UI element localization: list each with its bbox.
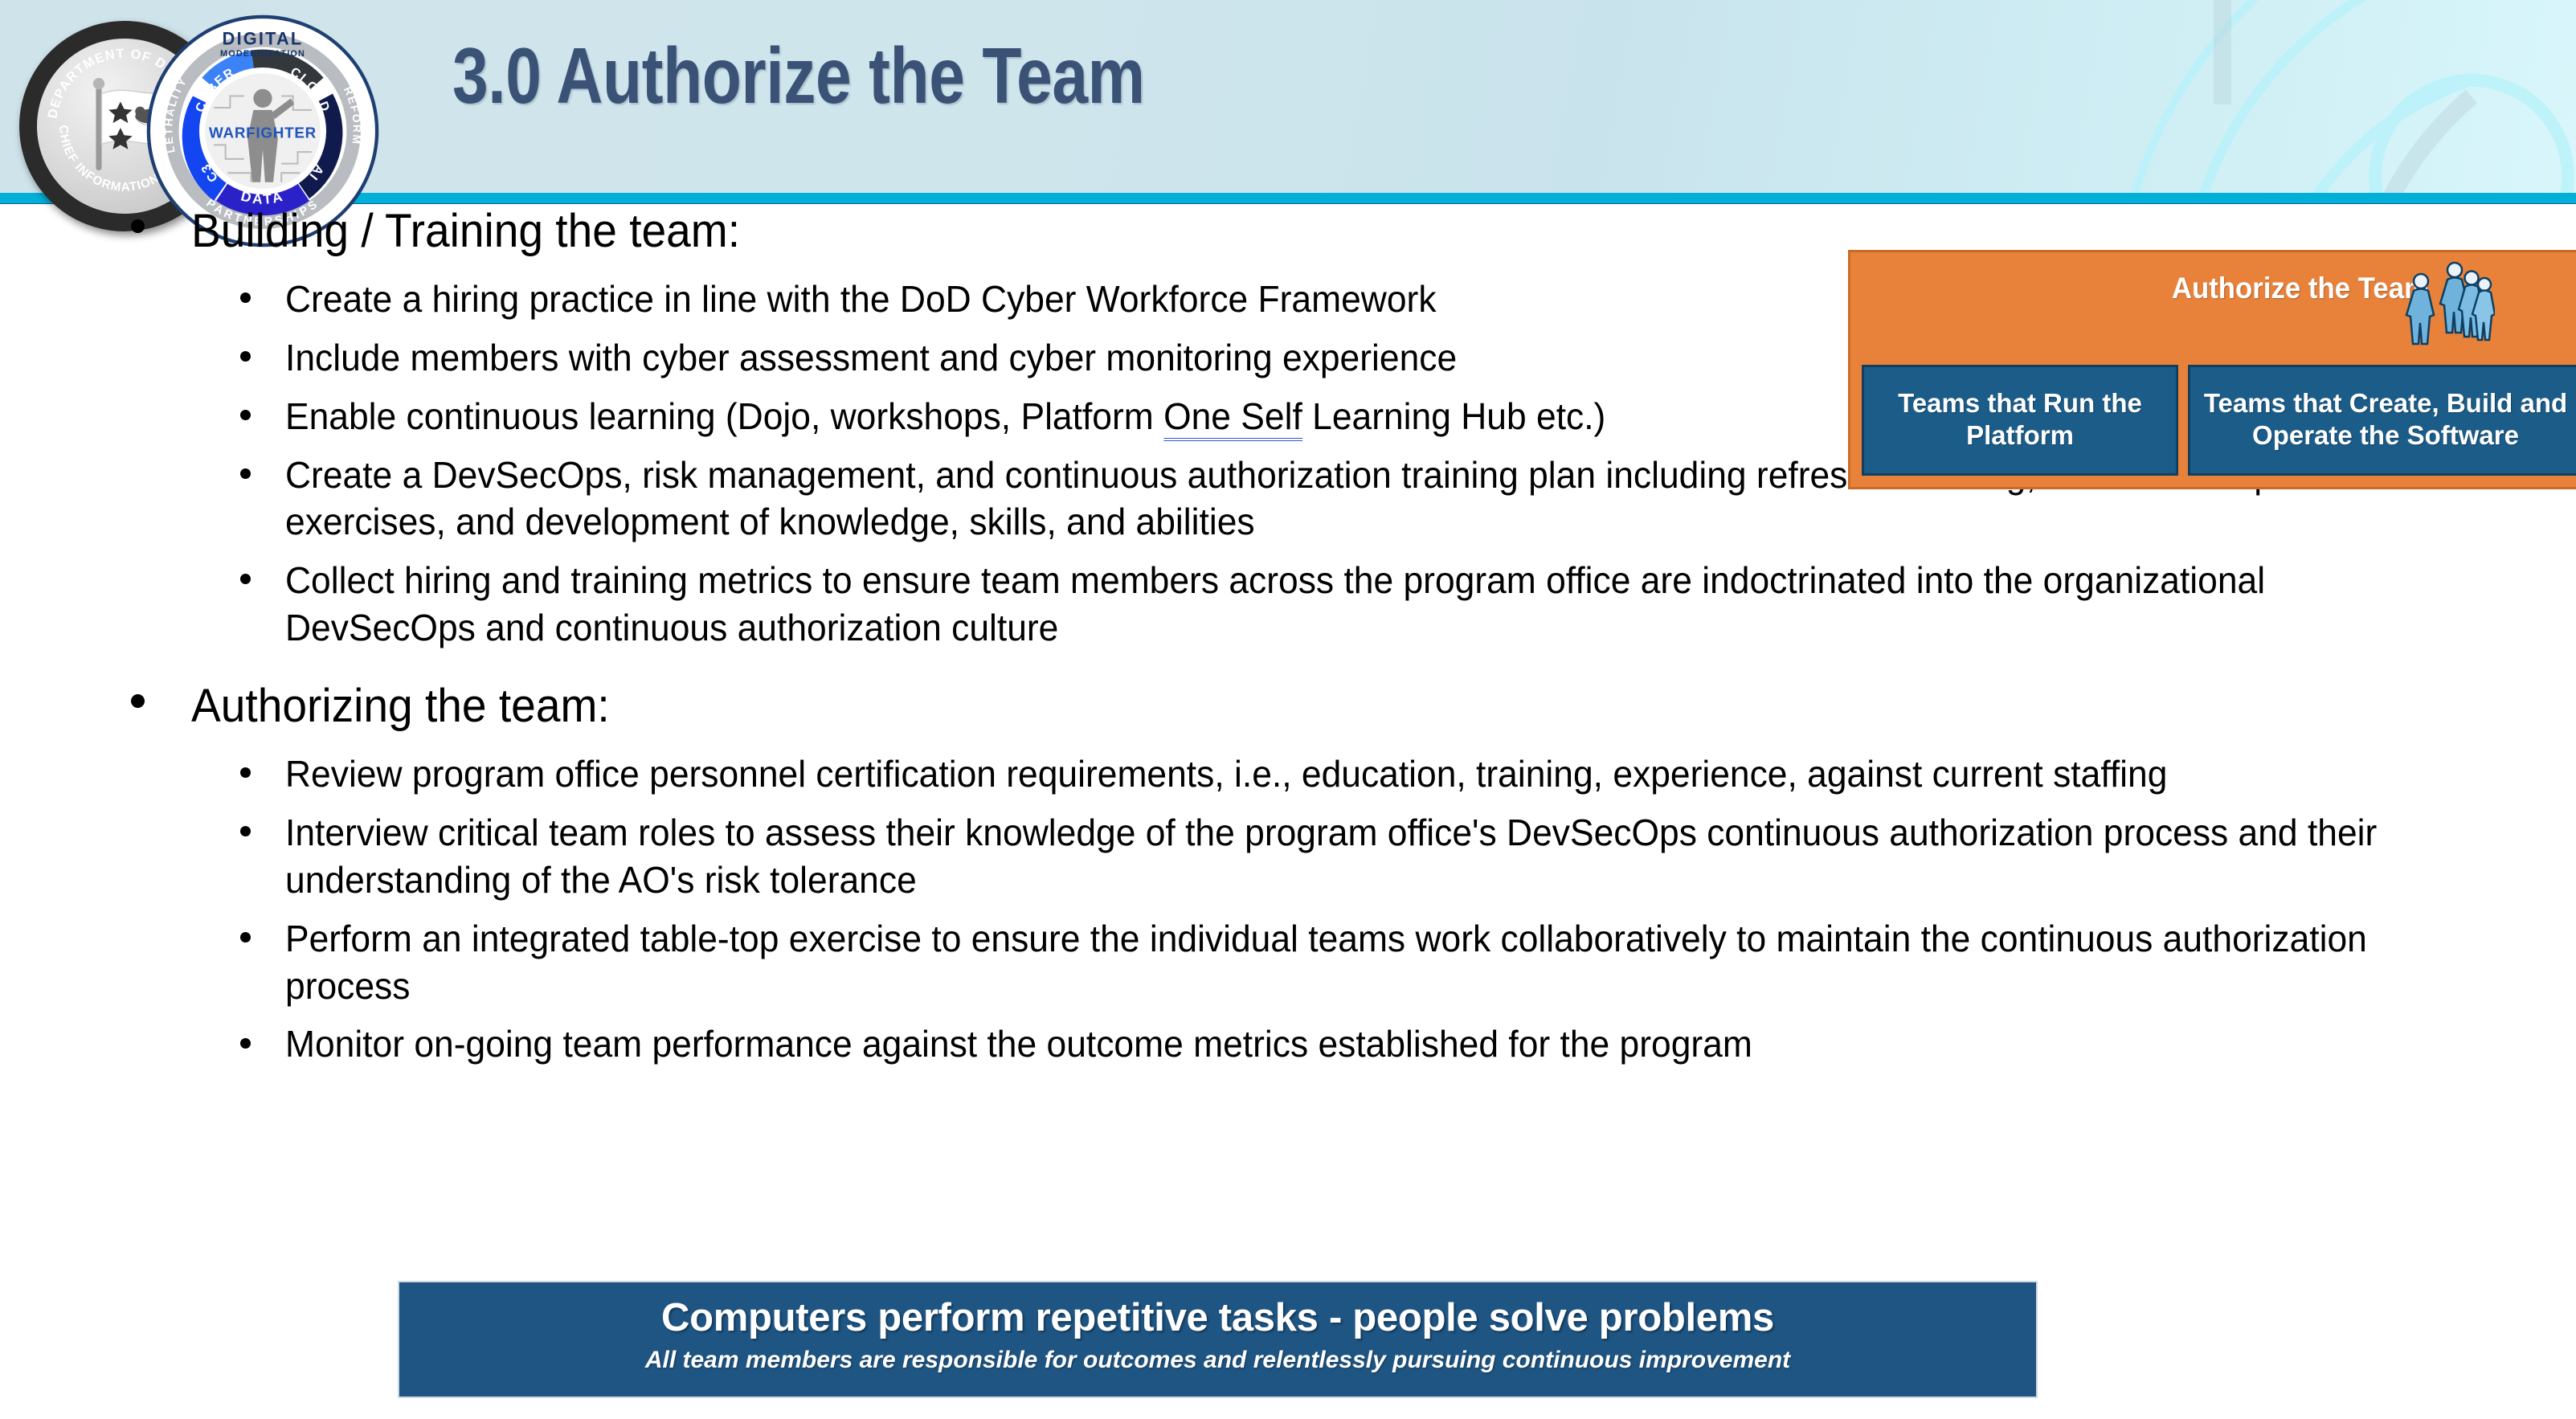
list-item-text: Monitor on-going team performance agains…: [285, 1023, 1752, 1065]
bullet-marker: [131, 219, 145, 233]
authorize-the-team-callout: Authorize the Team Teams that Run the Pl…: [1848, 250, 2576, 489]
svg-text:WARFIGHTER: WARFIGHTER: [209, 125, 317, 141]
list-item-text: Interview critical team roles to assess …: [285, 812, 2377, 901]
group-heading-text: Building / Training the team:: [191, 206, 740, 258]
callout-subbox-row: Teams that Run the Platform Teams that C…: [1862, 365, 2576, 476]
list-item: Monitor on-going team performance agains…: [0, 1020, 2576, 1068]
subbox-teams-create-build-operate[interactable]: Teams that Create, Build and Operate the…: [2188, 365, 2576, 476]
list-item: Review program office personnel certific…: [0, 750, 2576, 798]
footer-subline: All team members are responsible for out…: [399, 1347, 2036, 1374]
list-item-text: Perform an integrated table-top exercise…: [285, 918, 2367, 1007]
bullet-marker: [240, 1038, 251, 1049]
list-item: Collect hiring and training metrics to e…: [0, 557, 2576, 652]
bullet-marker: [131, 694, 145, 708]
footer-banner: Computers perform repetitive tasks - peo…: [398, 1281, 2038, 1398]
list-item: Interview critical team roles to assess …: [0, 809, 2576, 904]
bullet-marker: [240, 826, 251, 836]
svg-text:DIGITAL: DIGITAL: [223, 29, 304, 49]
bullet-marker: [240, 468, 251, 479]
subbox-teams-run-platform[interactable]: Teams that Run the Platform: [1862, 365, 2178, 476]
tech-circles-decoration: [2022, 0, 2576, 193]
list-item-text: Include members with cyber assessment an…: [285, 337, 1457, 378]
bullet-marker: [240, 767, 251, 778]
bullet-marker: [240, 574, 251, 584]
bullet-marker: [240, 351, 251, 362]
list-item-text: Review program office personnel certific…: [285, 753, 2167, 795]
bullet-marker: [240, 410, 251, 420]
list-item-text: Enable continuous learning (Dojo, worksh…: [285, 395, 1163, 437]
list-item-text-tail: Learning Hub etc.): [1302, 395, 1606, 437]
bullet-marker: [240, 292, 251, 303]
one-self-link[interactable]: One Self: [1163, 395, 1302, 441]
svg-text:MODERNIZATION: MODERNIZATION: [220, 49, 305, 59]
page-title: 3.0 Authorize the Team: [452, 31, 1145, 121]
group-of-people-icon: [2390, 257, 2495, 350]
list-item-text: Create a hiring practice in line with th…: [285, 278, 1437, 320]
bullet-marker: [240, 932, 251, 943]
bullet-group-heading: Authorizing the team:: [0, 681, 2576, 733]
list-item-text: Collect hiring and training metrics to e…: [285, 559, 2265, 648]
footer-headline: Computers perform repetitive tasks - peo…: [399, 1295, 2036, 1340]
list-item: Perform an integrated table-top exercise…: [0, 915, 2576, 1010]
group-heading-text: Authorizing the team:: [191, 681, 610, 733]
callout-title: Authorize the Team: [1885, 272, 2429, 305]
